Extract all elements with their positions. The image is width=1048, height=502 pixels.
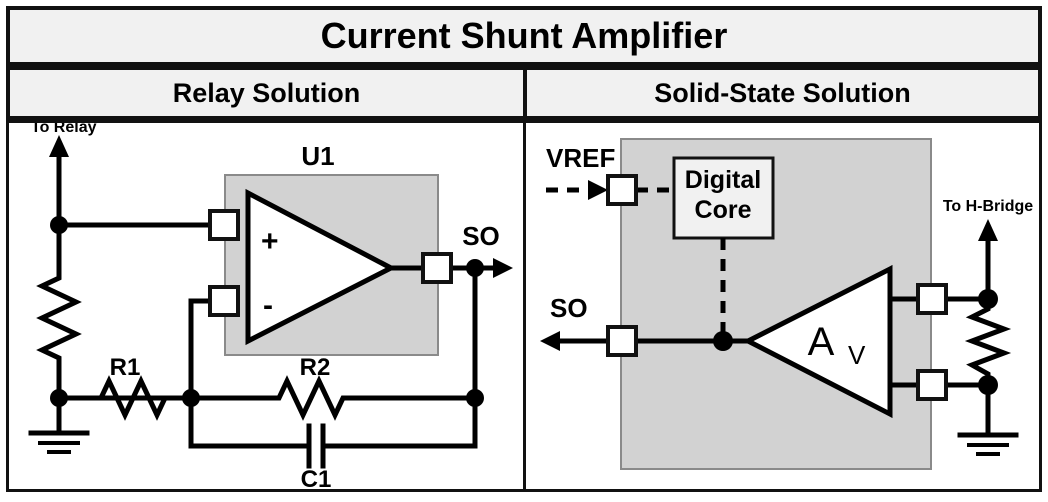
so-output-label: SO — [550, 293, 588, 323]
junction-dot-shunt-low — [978, 375, 998, 395]
digital-core-label-line2: Core — [695, 196, 752, 224]
inverting-input-label: - — [263, 289, 273, 322]
relay-solution-cell: + - U1 To Relay R1 — [6, 120, 527, 492]
noninverting-input-label: + — [261, 225, 279, 258]
pin-shunt-low — [918, 371, 946, 399]
gain-symbol-label: A — [808, 320, 835, 364]
c1-label: C1 — [301, 466, 332, 489]
so-output-label: SO — [462, 221, 500, 251]
page-title: Current Shunt Amplifier — [321, 18, 728, 54]
r1-label: R1 — [110, 354, 141, 381]
to-h-bridge-arrowhead — [978, 219, 998, 241]
junction-dot-signal — [713, 331, 733, 351]
pin-minus-input — [210, 287, 238, 315]
r2-resistor — [191, 381, 475, 415]
to-relay-arrowhead — [49, 135, 69, 157]
junction-dot-relay — [50, 216, 68, 234]
vref-label: VREF — [546, 143, 615, 173]
junction-dot-output — [466, 259, 484, 277]
to-relay-label: To Relay — [31, 123, 97, 136]
to-h-bridge-label: To H-Bridge — [943, 198, 1033, 215]
title-row: Current Shunt Amplifier — [6, 6, 1042, 66]
relay-solution-schematic: + - U1 To Relay R1 — [9, 123, 524, 489]
c1-right-wire — [323, 398, 475, 446]
gain-subscript-label: V — [848, 340, 866, 370]
diagram-page: Current Shunt Amplifier Relay Solution S… — [0, 0, 1048, 502]
so-arrowhead — [540, 331, 560, 351]
so-arrowhead — [493, 258, 513, 278]
column-header-relay-label: Relay Solution — [173, 80, 361, 107]
vref-arrowhead — [588, 180, 608, 200]
solid-state-solution-schematic: Digital Core VREF SO A V — [526, 123, 1039, 489]
shunt-resistor — [972, 299, 1004, 385]
column-header-solid-state-label: Solid-State Solution — [654, 80, 911, 107]
pin-shunt-high — [918, 285, 946, 313]
column-header-solid-state: Solid-State Solution — [523, 66, 1042, 120]
r2-label: R2 — [300, 354, 331, 381]
junction-dot-shunt-high — [978, 289, 998, 309]
junction-dot-r2-right — [466, 389, 484, 407]
pin-plus-input — [210, 211, 238, 239]
c1-left-wire — [191, 398, 307, 446]
junction-dot-ground — [50, 389, 68, 407]
u1-reference-label: U1 — [301, 141, 334, 171]
column-header-relay: Relay Solution — [6, 66, 527, 120]
pin-output — [423, 254, 451, 282]
pin-so — [608, 327, 636, 355]
solid-state-solution-cell: Digital Core VREF SO A V — [523, 120, 1042, 492]
pin-vref — [608, 176, 636, 204]
digital-core-label-line1: Digital — [685, 166, 761, 194]
shunt-resistor — [42, 268, 76, 398]
junction-dot-feedback — [182, 389, 200, 407]
